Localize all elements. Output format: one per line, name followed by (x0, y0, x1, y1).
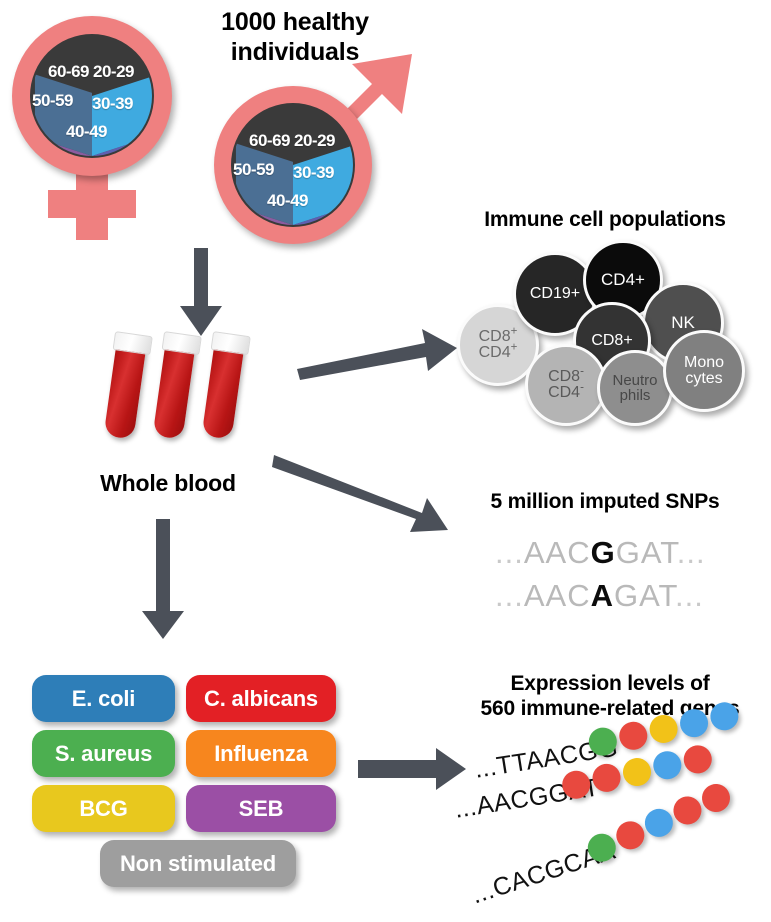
immune-cell-cd8n-cd4n: CD8- CD4- (525, 344, 607, 426)
rna-bead (617, 720, 649, 752)
snp-sequence-row: ...AACGGAT... (495, 535, 706, 571)
immune-cell-label: CD19+ (530, 286, 580, 302)
stimulus-c-albicans[interactable]: C. albicans (186, 675, 336, 722)
stimulus-bcg[interactable]: BCG (32, 785, 175, 832)
arrow-blood-to-stimuli (140, 519, 186, 641)
blood-tube (152, 331, 203, 447)
snp-after: GAT (616, 535, 677, 570)
male-gender-symbol: 20-29 30-39 40-49 50-59 60-69 (204, 38, 419, 253)
immune-cell-monocytes: Mono cytes (663, 330, 745, 412)
immune-cell-label: CD8- CD4- (548, 369, 584, 402)
immune-cell-cluster: CD8+ CD4+ CD19+ CD4+ NK CD8+ CD8- CD4- N… (455, 240, 760, 420)
rna-bead (641, 805, 676, 840)
stimulus-non-stimulated[interactable]: Non stimulated (100, 840, 296, 887)
blood-tube (103, 331, 154, 447)
cohort-title-line-1: 1000 healthy (170, 8, 420, 38)
pie-label-male-20-29: 20-29 (294, 131, 335, 151)
blood-tube-body (202, 343, 245, 439)
rna-bead (698, 780, 733, 815)
snp-before: AAC (524, 578, 591, 613)
blood-tube-body (104, 343, 147, 439)
immune-cell-neutrophils: Neutro phils (597, 350, 673, 426)
snp-sequence-row: ...AACAGAT... (495, 578, 704, 614)
male-age-pie-chart: 20-29 30-39 40-49 50-59 60-69 (231, 103, 355, 227)
stimulus-influenza[interactable]: Influenza (186, 730, 336, 777)
pie-label-40-49: 40-49 (66, 122, 107, 142)
whole-blood-tubes (110, 330, 290, 455)
rna-bead (621, 756, 653, 788)
immune-populations-title: Immune cell populations (455, 208, 755, 233)
rna-bead (651, 749, 683, 781)
rna-bead (682, 743, 714, 775)
pie-label-20-29: 20-29 (93, 62, 134, 82)
immune-cell-label: CD4+ (601, 271, 645, 288)
immune-cell-label: CD8+ CD4+ (479, 329, 518, 362)
pie-label-50-59: 50-59 (32, 91, 73, 111)
snp-variant-allele: G (591, 535, 616, 570)
female-gender-symbol: 20-29 30-39 40-49 50-59 60-69 (8, 12, 188, 242)
blood-tube-body (153, 343, 196, 439)
whole-blood-label: Whole blood (78, 470, 258, 497)
stimulus-seb[interactable]: SEB (186, 785, 336, 832)
stimulus-e-coli[interactable]: E. coli (32, 675, 175, 722)
rna-strand-group: ...TTAACGG ...AACGGAT ...CACGCAA (455, 740, 771, 910)
figure-canvas: 1000 healthy individuals 20-29 30-39 40-… (0, 0, 771, 922)
female-symbol-stem-cross (48, 190, 136, 218)
pie-label-male-40-49: 40-49 (267, 191, 308, 211)
arrow-blood-to-snps (272, 450, 452, 540)
snp-prefix-dots: ... (495, 535, 524, 570)
snp-suffix-dots: ... (675, 578, 704, 613)
immune-cell-label: CD8+ (591, 333, 632, 349)
arrow-blood-to-immune-cells (295, 322, 460, 380)
immune-cell-label: Neutro phils (612, 373, 657, 404)
pie-label-male-30-39: 30-39 (293, 163, 334, 183)
pie-label-male-50-59: 50-59 (233, 160, 274, 180)
pie-label-30-39: 30-39 (92, 94, 133, 114)
snp-after: GAT (614, 578, 675, 613)
blood-tube (201, 331, 252, 447)
arrow-stimuli-to-expression (358, 748, 468, 790)
arrow-cohort-to-blood (178, 248, 224, 340)
immune-cell-label: NK (671, 314, 695, 331)
expression-title-line-1: Expression levels of (455, 672, 765, 697)
female-age-pie-chart: 20-29 30-39 40-49 50-59 60-69 (30, 34, 154, 158)
pie-label-60-69: 60-69 (48, 62, 89, 82)
stimulus-s-aureus[interactable]: S. aureus (32, 730, 175, 777)
immune-cell-label: Mono cytes (684, 355, 724, 388)
pie-label-male-60-69: 60-69 (249, 131, 290, 151)
snp-prefix-dots: ... (495, 578, 524, 613)
snps-title: 5 million imputed SNPs (460, 490, 750, 515)
snp-suffix-dots: ... (677, 535, 706, 570)
rna-bead (613, 818, 648, 853)
rna-bead (670, 793, 705, 828)
snp-before: AAC (524, 535, 591, 570)
snp-variant-allele: A (591, 578, 614, 613)
